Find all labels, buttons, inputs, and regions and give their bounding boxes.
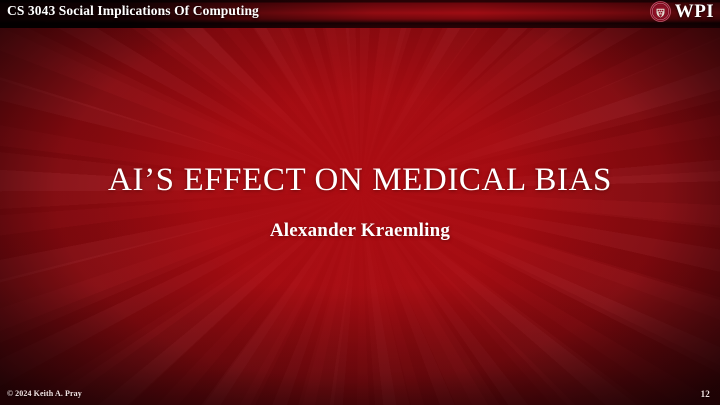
wpi-wordmark: WPI (675, 1, 714, 22)
title-block: AI’S EFFECT ON MEDICAL BIAS Alexander Kr… (0, 160, 720, 244)
course-title: CS 3043 Social Implications Of Computing (7, 1, 259, 21)
background-bottom-fade (0, 285, 720, 405)
wpi-logo: WPI (650, 1, 714, 22)
slide-title: AI’S EFFECT ON MEDICAL BIAS (0, 160, 720, 200)
wpi-seal-icon (650, 1, 671, 22)
copyright-notice: © 2024 Keith A. Pray (7, 389, 82, 399)
slide-subtitle-author: Alexander Kraemling (0, 218, 720, 244)
presentation-slide: CS 3043 Social Implications Of Computing… (0, 0, 720, 405)
page-number: 12 (701, 389, 710, 399)
